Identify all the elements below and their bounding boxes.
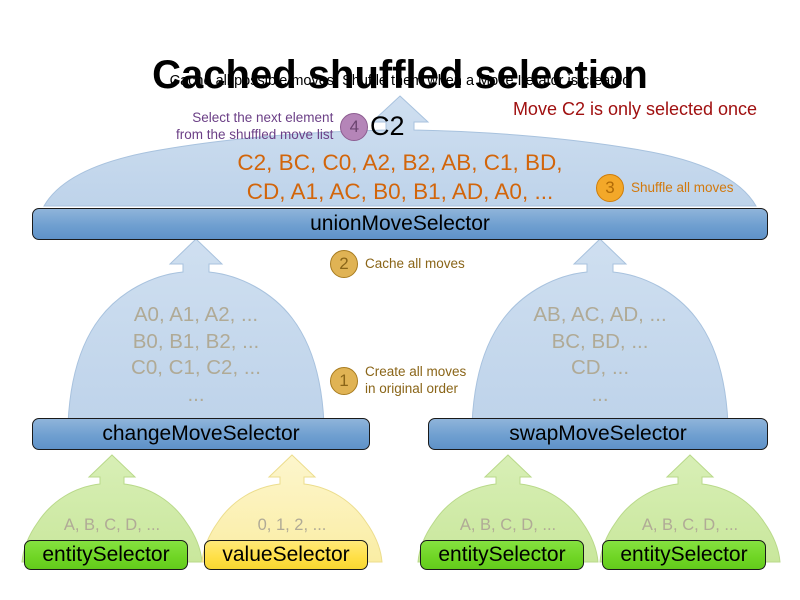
shuffled-move-list-line-1: C2, BC, C0, A2, B2, AB, C1, BD, — [150, 148, 650, 177]
leaf-cloud-text-1: A, B, C, D, ... — [22, 515, 202, 536]
selected-move-label: C2 — [370, 111, 405, 142]
callout-4-text: Select the next element from the shuffle… — [176, 110, 333, 144]
page-subtitle: Cache all possible moves. Shuffle them w… — [0, 73, 800, 89]
swap-move-line-3: CD, ... — [470, 355, 730, 382]
callout-2-badge: 2 — [330, 250, 358, 278]
leaf-cloud-text-3: A, B, C, D, ... — [418, 515, 598, 536]
callout-4-badge: 4 — [340, 113, 368, 141]
change-move-line-1: A0, A1, A2, ... — [66, 302, 326, 329]
swap-move-selector-label: swapMoveSelector — [509, 422, 686, 446]
swap-move-list: AB, AC, AD, ... BC, BD, ... CD, ... ... — [470, 302, 730, 409]
entity-selector-label-2: entitySelector — [438, 543, 565, 567]
entity-selector-label-1: entitySelector — [42, 543, 169, 567]
shuffled-move-list: C2, BC, C0, A2, B2, AB, C1, BD, CD, A1, … — [150, 148, 650, 207]
diagram-labels: Cached shuffled selection Cache all poss… — [0, 0, 800, 600]
callout-2-line-1: Cache all moves — [365, 256, 465, 273]
change-move-selector-bar[interactable]: changeMoveSelector — [32, 418, 370, 450]
entity-selector-bar-2[interactable]: entitySelector — [420, 540, 584, 570]
leaf-cloud-text-2: 0, 1, 2, ... — [202, 515, 382, 536]
callout-2: 2 Cache all moves — [330, 250, 465, 278]
warning-note: Move C2 is only selected once — [480, 99, 790, 120]
swap-move-selector-bar[interactable]: swapMoveSelector — [428, 418, 768, 450]
callout-3-badge: 3 — [596, 174, 624, 202]
callout-3: 3 Shuffle all moves — [596, 174, 734, 202]
callout-3-text: Shuffle all moves — [631, 180, 734, 197]
swap-move-line-1: AB, AC, AD, ... — [470, 302, 730, 329]
callout-4-line-2: from the shuffled move list — [176, 127, 333, 144]
callout-2-text: Cache all moves — [365, 256, 465, 273]
leaf-cloud-text-4: A, B, C, D, ... — [600, 515, 780, 536]
change-move-line-4: ... — [66, 382, 326, 409]
value-selector-bar[interactable]: valueSelector — [204, 540, 368, 570]
value-selector-label: valueSelector — [222, 543, 349, 567]
union-move-selector-bar[interactable]: unionMoveSelector — [32, 208, 768, 240]
callout-3-line-1: Shuffle all moves — [631, 180, 734, 197]
callout-1: 1 Create all moves in original order — [330, 364, 466, 398]
entity-selector-bar-3[interactable]: entitySelector — [602, 540, 766, 570]
change-move-line-2: B0, B1, B2, ... — [66, 329, 326, 356]
callout-1-line-1: Create all moves — [365, 364, 466, 381]
callout-1-line-2: in original order — [365, 381, 466, 398]
callout-1-badge: 1 — [330, 367, 358, 395]
callout-4: Select the next element from the shuffle… — [176, 110, 368, 144]
shuffled-move-list-line-2: CD, A1, AC, B0, B1, AD, A0, ... — [150, 177, 650, 206]
swap-move-line-2: BC, BD, ... — [470, 329, 730, 356]
change-move-line-3: C0, C1, C2, ... — [66, 355, 326, 382]
callout-1-text: Create all moves in original order — [365, 364, 466, 398]
diagram-canvas: Cached shuffled selection Cache all poss… — [0, 0, 800, 600]
callout-4-line-1: Select the next element — [176, 110, 333, 127]
swap-move-line-4: ... — [470, 382, 730, 409]
entity-selector-label-3: entitySelector — [620, 543, 747, 567]
entity-selector-bar-1[interactable]: entitySelector — [24, 540, 188, 570]
union-move-selector-label: unionMoveSelector — [310, 212, 490, 236]
change-move-selector-label: changeMoveSelector — [102, 422, 299, 446]
change-move-list: A0, A1, A2, ... B0, B1, B2, ... C0, C1, … — [66, 302, 326, 409]
